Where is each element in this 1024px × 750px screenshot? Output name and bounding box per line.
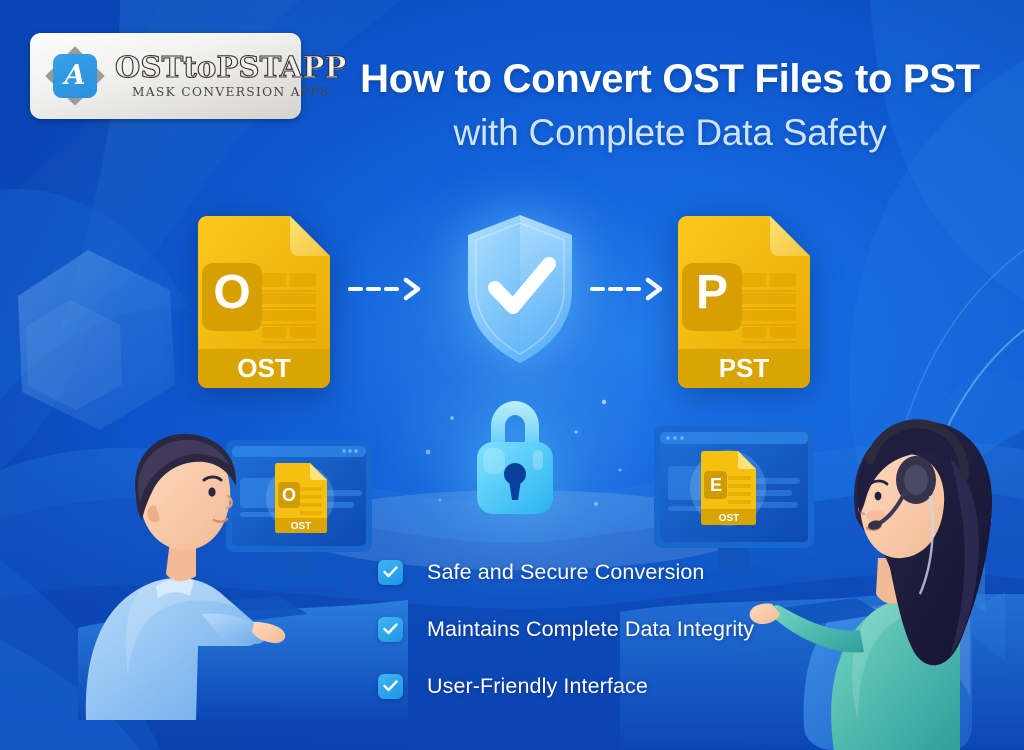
checklist-label: User-Friendly Interface xyxy=(427,674,648,699)
padlock-icon xyxy=(465,392,565,520)
headline-line-2: with Complete Data Safety xyxy=(340,111,1000,155)
list-item[interactable]: Safe and Secure Conversion xyxy=(378,552,754,592)
checklist-label: Maintains Complete Data Integrity xyxy=(427,617,754,642)
pst-badge-letter: P xyxy=(696,266,728,319)
brand-text: OSTtoPSTAPP MASK CONVERSION APPS xyxy=(115,53,347,100)
checklist-label: Safe and Secure Conversion xyxy=(427,560,705,585)
list-item[interactable]: Maintains Complete Data Integrity xyxy=(378,609,754,649)
shield-check-icon xyxy=(462,212,578,367)
headline-line-1: How to Convert OST Files to PST xyxy=(340,56,1000,102)
left-screen-file-badge: O xyxy=(282,485,296,505)
brand-name: OSTtoPSTAPP xyxy=(115,53,347,83)
page-title: How to Convert OST Files to PST with Com… xyxy=(340,56,1000,156)
check-icon xyxy=(378,560,403,585)
brand-logo-badge[interactable]: A OSTtoPSTAPP MASK CONVERSION APPS xyxy=(30,33,301,119)
left-screen-file-label: OST xyxy=(291,521,312,532)
brand-mark-letter: A xyxy=(65,62,86,89)
brand-mark: A xyxy=(44,45,106,107)
dashed-arrow-right-icon-2 xyxy=(590,276,668,307)
man-at-computer-illustration: O OST xyxy=(78,400,408,720)
feature-checklist: Safe and Secure Conversion Maintains Com… xyxy=(378,552,754,723)
pst-file-icon: P PST xyxy=(676,215,812,390)
check-icon xyxy=(378,674,403,699)
poster-canvas: A OSTtoPSTAPP MASK CONVERSION APPS How t… xyxy=(0,0,1024,750)
app-letter-icon: A xyxy=(53,54,97,98)
right-screen-file-badge: E xyxy=(710,475,722,495)
check-icon xyxy=(378,617,403,642)
right-screen-file-label: OST xyxy=(719,513,740,524)
dashed-arrow-right-icon xyxy=(348,276,426,307)
ost-file-icon: O OST xyxy=(196,215,332,390)
ost-badge-letter: O xyxy=(213,266,250,319)
pst-file-label: PST xyxy=(719,353,770,383)
ost-file-label: OST xyxy=(237,353,291,383)
list-item[interactable]: User-Friendly Interface xyxy=(378,666,754,706)
brand-tagline: MASK CONVERSION APPS xyxy=(132,85,330,99)
